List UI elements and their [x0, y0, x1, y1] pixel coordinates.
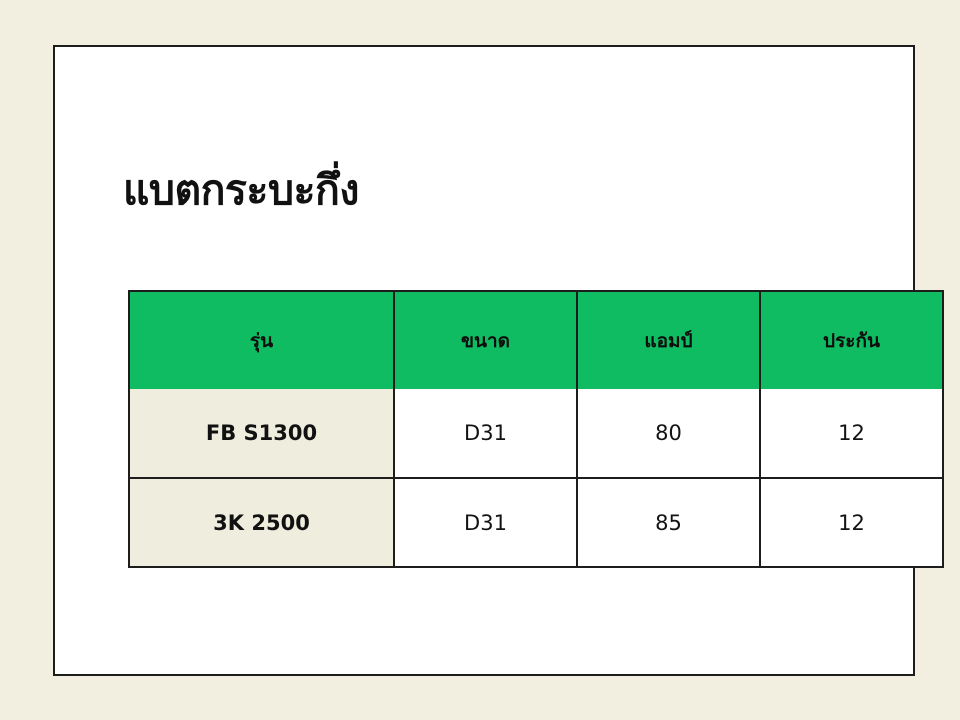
column-header-model: รุ่น [129, 291, 394, 389]
cell-warranty: 12 [760, 478, 943, 567]
table-header: รุ่น ขนาด แอมป์ ประกัน [129, 291, 943, 389]
table-body: FB S1300 D31 80 12 3K 2500 D31 85 12 [129, 389, 943, 567]
page-title: แบตกระบะกึ่ง [123, 169, 359, 212]
battery-spec-table: รุ่น ขนาด แอมป์ ประกัน FB S1300 D31 80 1… [128, 290, 944, 568]
cell-amp: 80 [577, 389, 760, 478]
content-card: แบตกระบะกึ่ง รุ่น ขนาด แอมป์ ประกัน FB S… [53, 45, 915, 676]
cell-amp: 85 [577, 478, 760, 567]
column-header-amp: แอมป์ [577, 291, 760, 389]
cell-model: 3K 2500 [129, 478, 394, 567]
cell-size: D31 [394, 389, 577, 478]
slide-canvas: แบตกระบะกึ่ง รุ่น ขนาด แอมป์ ประกัน FB S… [0, 0, 960, 720]
column-header-warranty: ประกัน [760, 291, 943, 389]
cell-size: D31 [394, 478, 577, 567]
column-header-size: ขนาด [394, 291, 577, 389]
cell-model: FB S1300 [129, 389, 394, 478]
table-row: 3K 2500 D31 85 12 [129, 478, 943, 567]
cell-warranty: 12 [760, 389, 943, 478]
table-row: FB S1300 D31 80 12 [129, 389, 943, 478]
table-header-row: รุ่น ขนาด แอมป์ ประกัน [129, 291, 943, 389]
